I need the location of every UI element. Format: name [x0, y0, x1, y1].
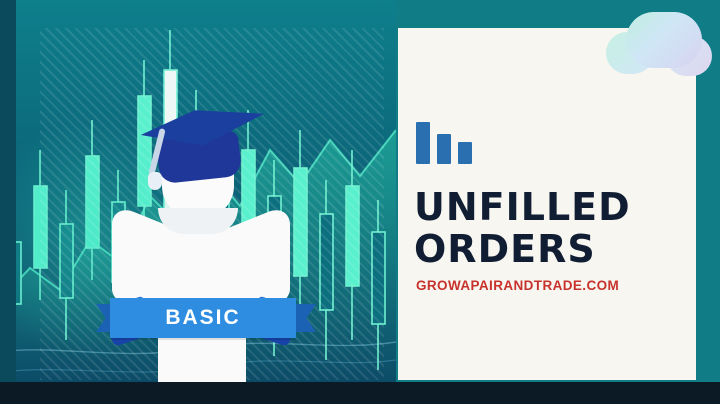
- bottom-band: [0, 382, 720, 404]
- chart-background-panel: BASIC: [0, 0, 396, 404]
- tassel-end-icon: [148, 172, 162, 190]
- cloud-icon: [604, 2, 714, 86]
- bar-3: [458, 142, 472, 164]
- cloud-lobe-center: [626, 12, 702, 68]
- bar-1: [416, 122, 430, 164]
- title-line-1: UNFILLED: [414, 185, 631, 229]
- graduate-figure-icon: BASIC: [96, 56, 306, 386]
- website-url: GROWAPAIRANDTRADE.COM: [416, 278, 619, 293]
- page-title: UNFILLED ORDERS: [414, 186, 686, 270]
- bar-2: [437, 134, 451, 164]
- title-line-2: ORDERS: [414, 228, 686, 270]
- badge-ribbon: BASIC: [110, 298, 296, 338]
- bar-chart-icon: [416, 122, 472, 164]
- slide-canvas: BASIC UNFILLED ORDERS GROWAPAIRANDTRADE.…: [0, 0, 720, 404]
- left-edge-strip: [0, 0, 16, 404]
- badge-label: BASIC: [165, 306, 240, 330]
